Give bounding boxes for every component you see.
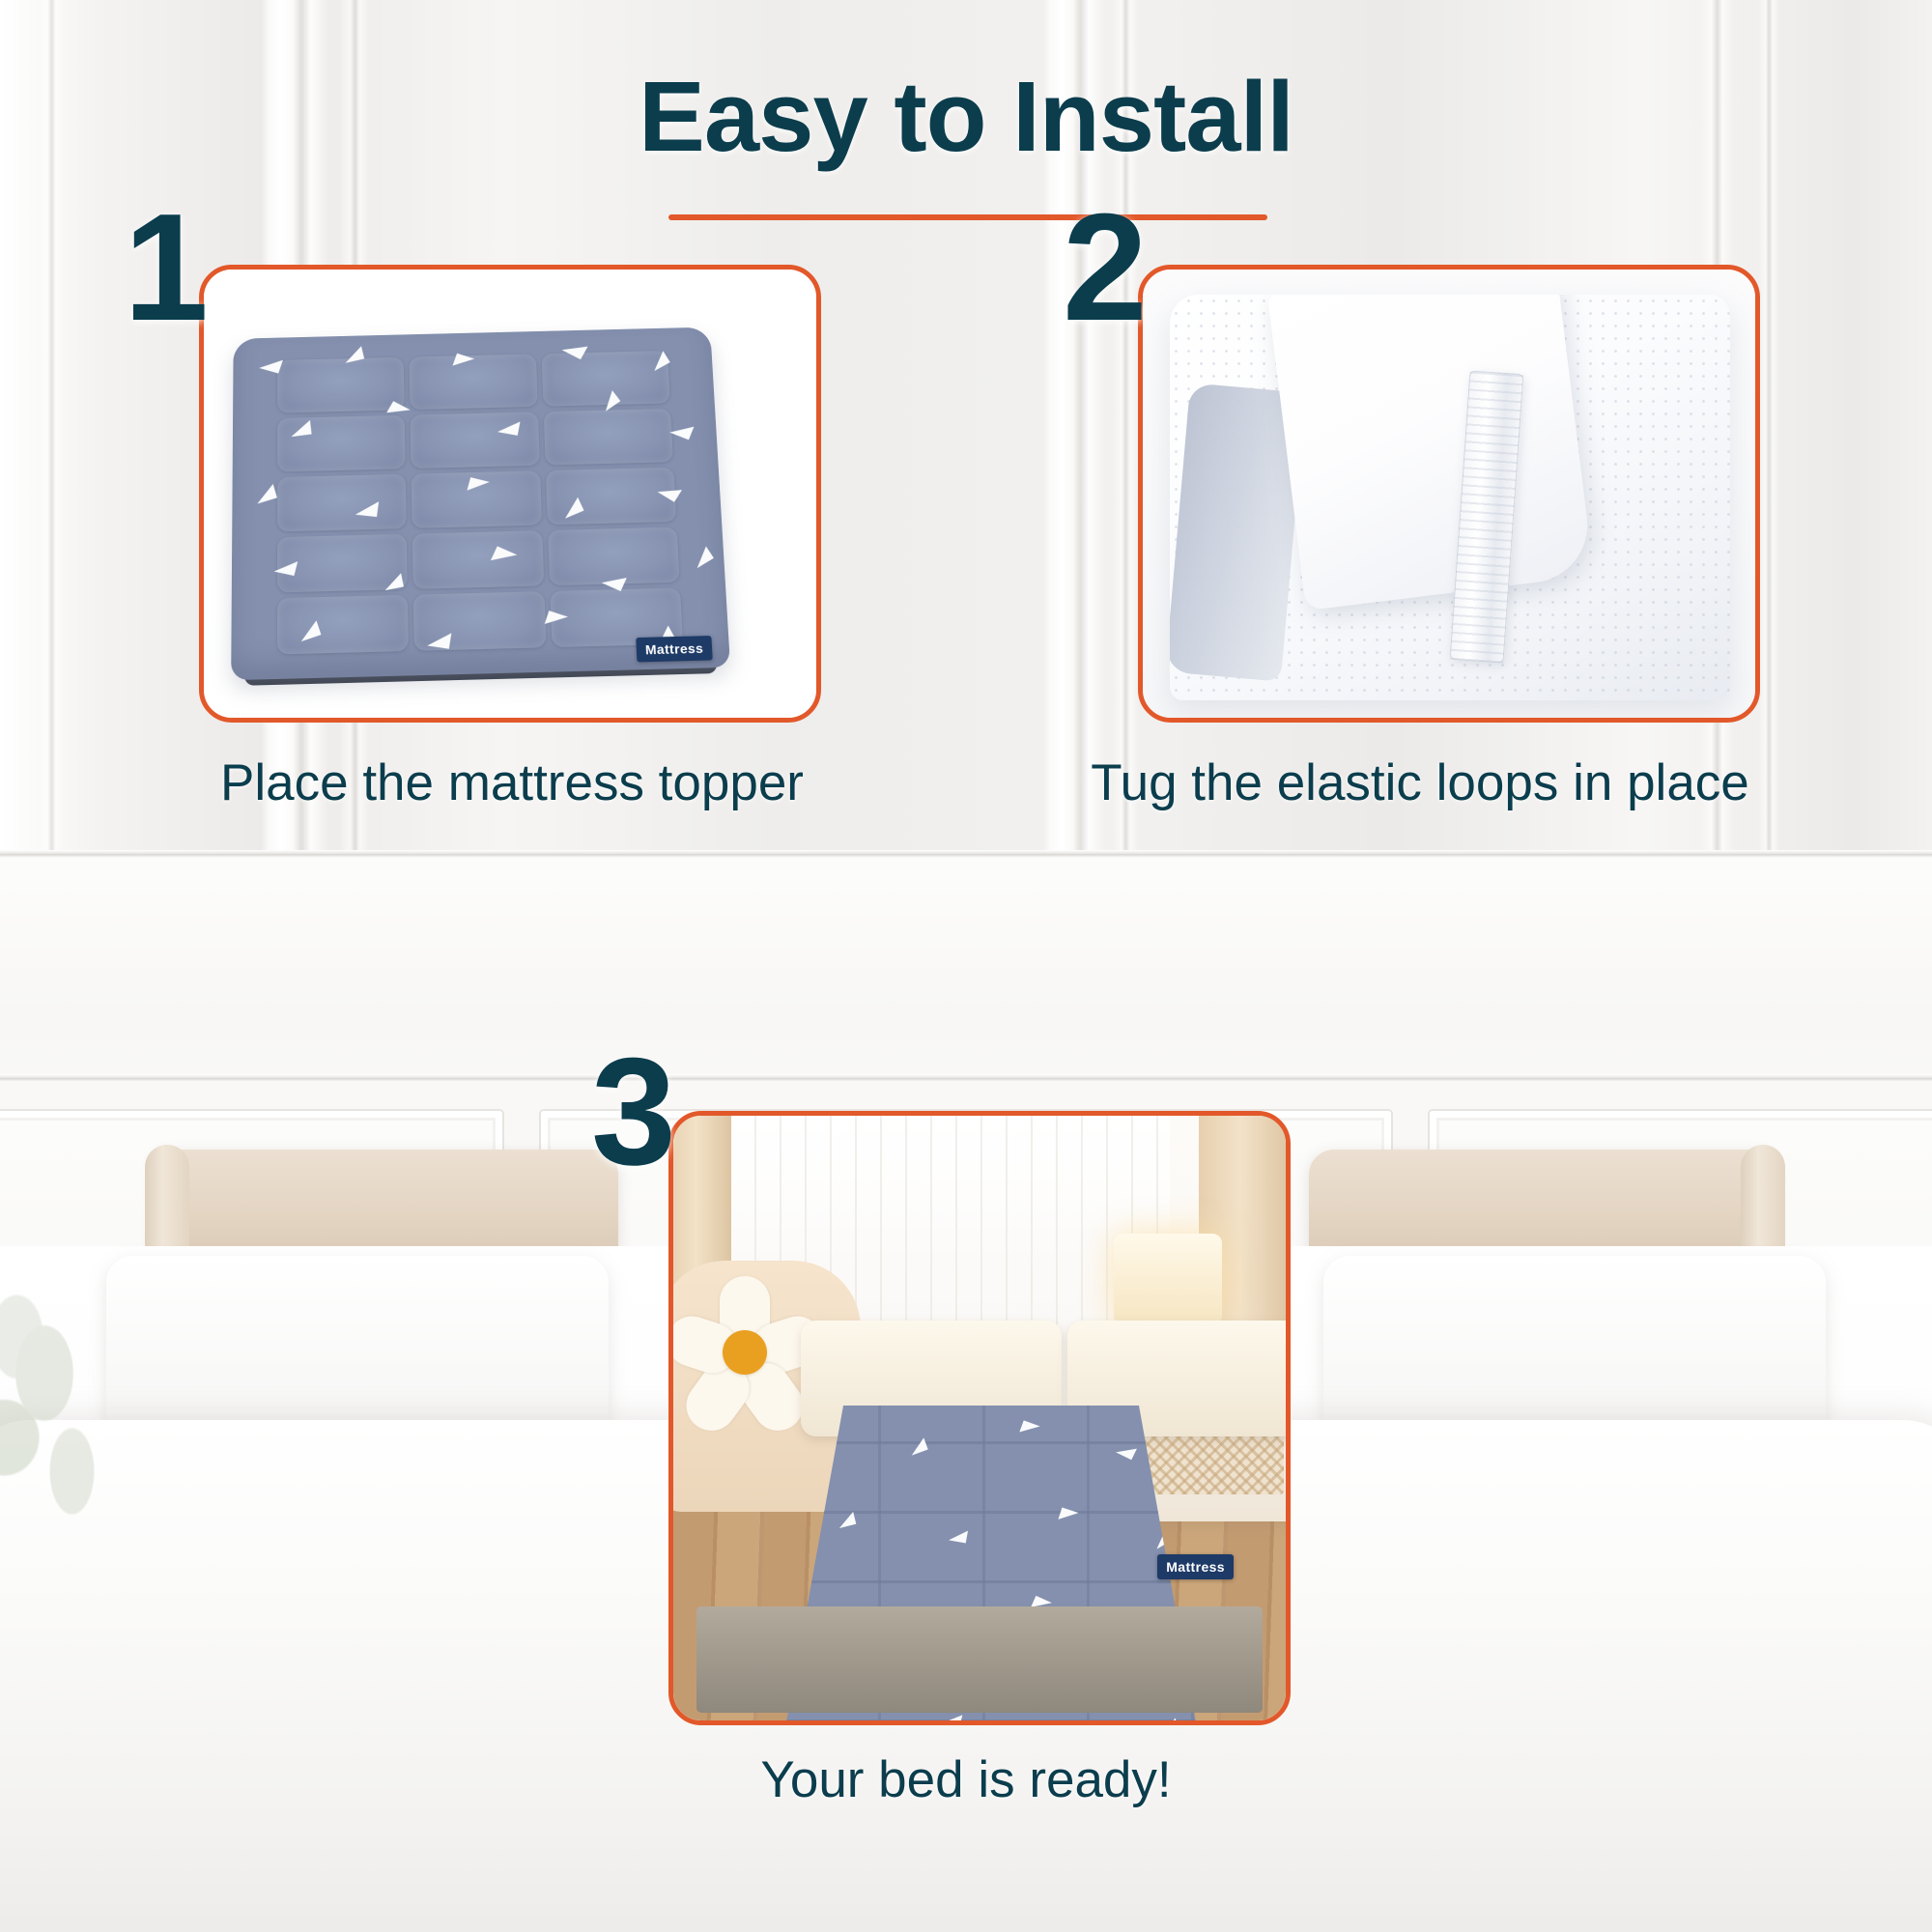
step-caption-1: Place the mattress topper (0, 753, 1024, 812)
triangle-print (355, 499, 379, 517)
step-2-image (1143, 270, 1755, 718)
infographic-stage: Easy to Install (0, 0, 1932, 1932)
step-1-image: Mattress (204, 270, 816, 718)
plant-decor (0, 1275, 155, 1555)
quilt-grid (277, 351, 683, 654)
brand-tag: Mattress (1157, 1554, 1234, 1579)
topper-quilted-surface (231, 327, 730, 681)
cover-folded-flap (1267, 295, 1594, 611)
triangle-print (427, 630, 451, 649)
wainscot-rail-top (0, 850, 1932, 858)
table-lamp-shade (1114, 1234, 1222, 1322)
step-3-image: Mattress (673, 1116, 1286, 1720)
triangle-print (690, 547, 714, 569)
step-card-3[interactable]: Mattress (668, 1111, 1291, 1725)
mattress-topper-illustration: Mattress (231, 327, 733, 723)
step-caption-3: Your bed is ready! (0, 1750, 1932, 1809)
step-card-2[interactable] (1138, 265, 1760, 723)
wainscot-rail-mid (0, 1074, 1932, 1082)
bed-frame-base (696, 1606, 1263, 1713)
daisy-cushion (675, 1282, 820, 1427)
step-card-1[interactable]: Mattress (199, 265, 821, 723)
triangle-print (669, 419, 694, 440)
step-caption-2: Tug the elastic loops in place (908, 753, 1932, 812)
brand-tag: Mattress (636, 636, 712, 662)
step-number-3: 3 (591, 1051, 676, 1173)
step-number-1: 1 (124, 207, 209, 328)
title-underline-rule (668, 214, 1267, 220)
page-title: Easy to Install (0, 60, 1932, 174)
step-number-2: 2 (1063, 207, 1148, 328)
triangle-print (290, 420, 312, 437)
mattress-cover-corner (1170, 295, 1730, 700)
triangle-print (253, 484, 277, 503)
